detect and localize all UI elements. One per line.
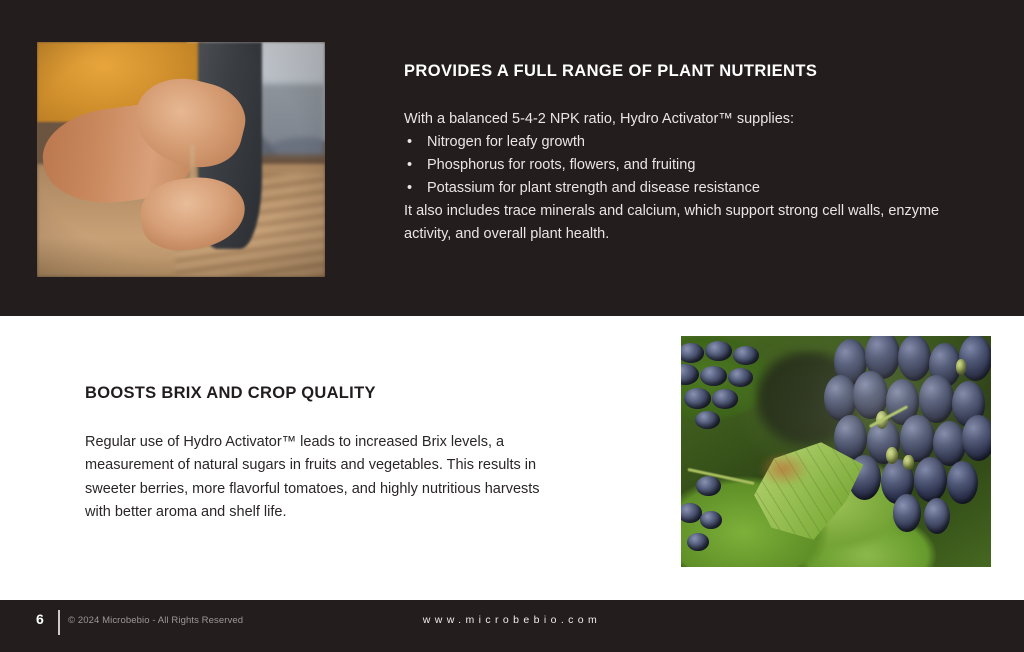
bullet-icon: •: [407, 154, 412, 177]
list-item-label: Potassium for plant strength and disease…: [427, 180, 760, 196]
list-item: • Potassium for plant strength and disea…: [404, 177, 944, 200]
list-item: • Phosphorus for roots, flowers, and fru…: [404, 154, 944, 177]
list-item-label: Nitrogen for leafy growth: [427, 134, 585, 150]
lower-text-block: BOOSTS BRIX AND CROP QUALITY Regular use…: [85, 384, 565, 525]
top-section-body: With a balanced 5-4-2 NPK ratio, Hydro A…: [404, 108, 944, 246]
bullet-icon: •: [407, 177, 412, 200]
presentation-slide: PROVIDES A FULL RANGE OF PLANT NUTRIENTS…: [0, 0, 1024, 652]
slide-footer: [0, 600, 1024, 652]
list-item-label: Phosphorus for roots, flowers, and fruit…: [427, 157, 695, 173]
grape-sunlight-overlay: [681, 336, 991, 567]
photo-vignette: [37, 42, 325, 277]
lower-section-body: Regular use of Hydro Activator™ leads to…: [85, 431, 565, 525]
top-text-block: PROVIDES A FULL RANGE OF PLANT NUTRIENTS…: [404, 62, 944, 246]
website-url[interactable]: www.microbebio.com: [0, 614, 1024, 626]
npk-intro-line: With a balanced 5-4-2 NPK ratio, Hydro A…: [404, 108, 944, 131]
nutrient-bullet-list: • Nitrogen for leafy growth • Phosphorus…: [404, 131, 944, 200]
hands-sifting-soil-photo: [37, 42, 325, 277]
bullet-icon: •: [407, 131, 412, 154]
top-section-closing: It also includes trace minerals and calc…: [404, 200, 944, 246]
list-item: • Nitrogen for leafy growth: [404, 131, 944, 154]
lower-section-heading: BOOSTS BRIX AND CROP QUALITY: [85, 384, 565, 404]
purple-grape-cluster-photo: [681, 336, 991, 567]
top-section-heading: PROVIDES A FULL RANGE OF PLANT NUTRIENTS: [404, 62, 944, 82]
